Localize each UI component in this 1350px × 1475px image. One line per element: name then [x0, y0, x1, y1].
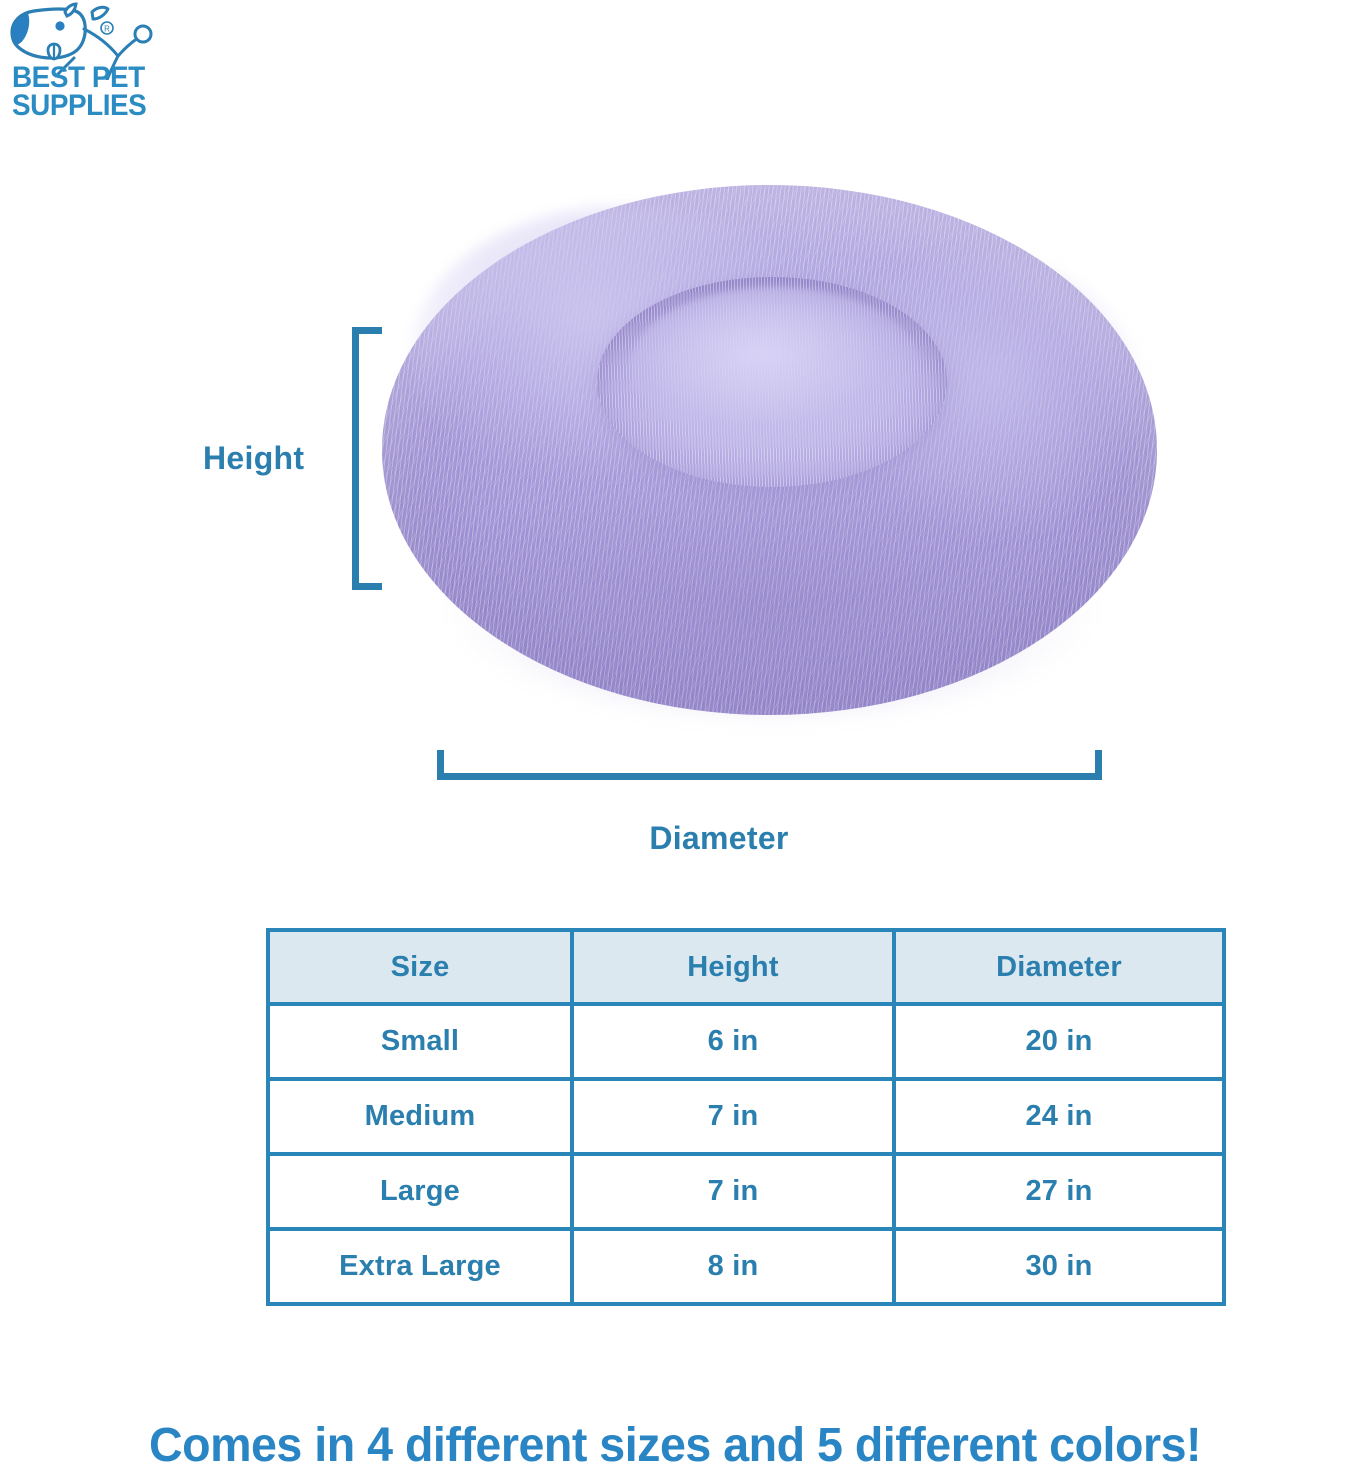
product-illustration: Height Diameter [0, 130, 1350, 770]
cell-diameter: 24 in [894, 1079, 1224, 1154]
brand-wordmark: BEST PET SUPPLIES [12, 64, 162, 119]
bed-front-shadow [442, 465, 1102, 715]
table-row: Large 7 in 27 in [268, 1154, 1224, 1229]
height-bracket [352, 327, 382, 590]
height-bracket-bar [352, 327, 359, 590]
cell-diameter: 30 in [894, 1229, 1224, 1304]
diameter-label-wrap: Diameter [0, 820, 1350, 857]
table-row: Small 6 in 20 in [268, 1004, 1224, 1079]
column-header-diameter: Diameter [894, 930, 1224, 1004]
cell-height: 7 in [572, 1079, 894, 1154]
column-header-height: Height [572, 930, 894, 1004]
brand-logo: R BEST PET SUPPLIES [4, 2, 174, 130]
cell-size: Large [268, 1154, 572, 1229]
cell-height: 8 in [572, 1229, 894, 1304]
cell-diameter: 27 in [894, 1154, 1224, 1229]
height-label: Height [203, 440, 304, 477]
height-bracket-bottom-tick [352, 583, 382, 590]
table-row: Extra Large 8 in 30 in [268, 1229, 1224, 1304]
cell-diameter: 20 in [894, 1004, 1224, 1079]
cell-height: 7 in [572, 1154, 894, 1229]
cell-height: 6 in [572, 1004, 894, 1079]
footer-tagline: Comes in 4 different sizes and 5 differe… [20, 1418, 1330, 1473]
brand-name-line-1: BEST PET [12, 64, 152, 92]
column-header-size: Size [268, 930, 572, 1004]
diameter-bracket-bar [437, 773, 1102, 780]
pet-bed-image [382, 165, 1157, 725]
diameter-bracket [437, 750, 1102, 780]
cell-size: Small [268, 1004, 572, 1079]
table-row: Medium 7 in 24 in [268, 1079, 1224, 1154]
cell-size: Medium [268, 1079, 572, 1154]
cell-size: Extra Large [268, 1229, 572, 1304]
brand-name-line-2: SUPPLIES [12, 92, 152, 120]
diameter-bracket-right-tick [1095, 750, 1102, 780]
table-header-row: Size Height Diameter [268, 930, 1224, 1004]
svg-text:R: R [104, 25, 110, 34]
size-chart-table: Size Height Diameter Small 6 in 20 in Me… [266, 928, 1226, 1306]
bed-inner-highlight [630, 287, 920, 447]
diameter-label: Diameter [649, 820, 788, 856]
